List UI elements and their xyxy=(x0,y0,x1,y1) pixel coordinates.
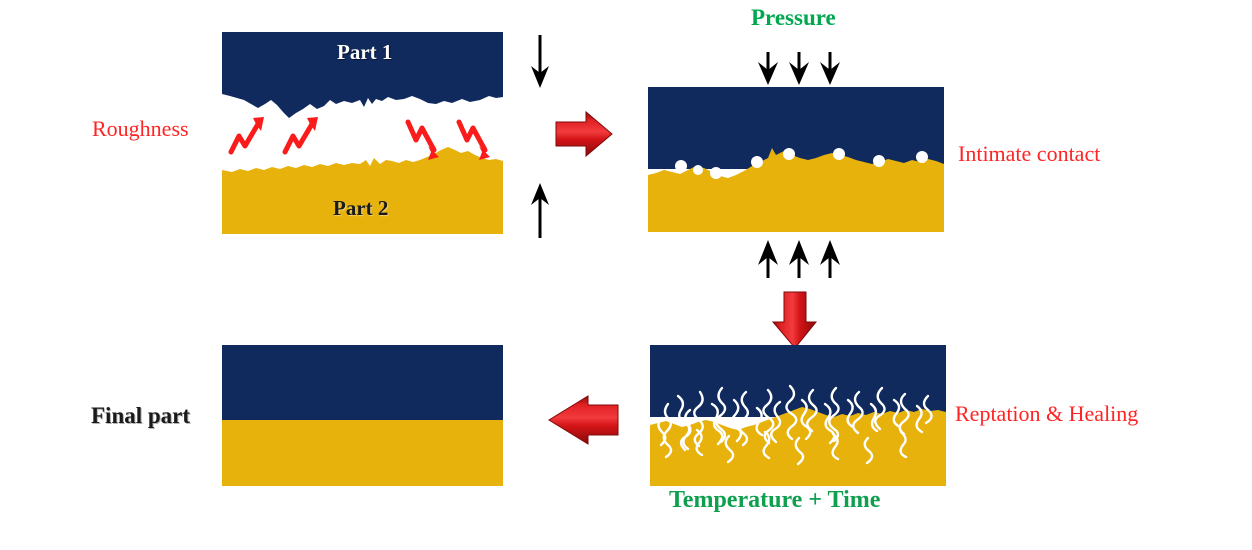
reptation-healing-label: Reptation & Healing xyxy=(955,403,1138,425)
pressure-arrow-up-1 xyxy=(758,240,778,278)
pressure-arrow-down-2 xyxy=(789,52,809,85)
diagram-graphics xyxy=(0,0,1252,550)
final-part-label: Final part xyxy=(91,404,190,427)
roughness-zigzag-up-2 xyxy=(285,124,312,152)
part2-closing-arrow xyxy=(531,183,549,238)
roughness-zigzag-up-1 xyxy=(231,124,258,152)
pressure-label: Pressure xyxy=(751,6,836,29)
panel4-gold-block xyxy=(222,420,503,486)
pressure-arrow-down-1 xyxy=(758,52,778,85)
part1-closing-arrow xyxy=(531,35,549,88)
panel-3-reptation-healing xyxy=(650,345,946,486)
arrow-panel2-to-panel3 xyxy=(773,292,816,348)
panel4-navy-block xyxy=(222,345,503,420)
pressure-arrow-down-3 xyxy=(820,52,840,85)
temperature-time-label: Temperature + Time xyxy=(669,488,880,512)
pressure-arrow-up-3 xyxy=(820,240,840,278)
process-diagram: Part 1 Part 2 Roughness Pressure Intimat… xyxy=(0,0,1252,550)
arrow-panel3-to-panel4 xyxy=(549,396,618,444)
roughness-zigzag-down-1 xyxy=(408,122,434,150)
roughness-zigzag-down-2 xyxy=(459,122,485,150)
part2-label: Part 2 xyxy=(333,196,388,221)
roughness-label: Roughness xyxy=(92,118,189,140)
panel-2-intimate-contact xyxy=(648,52,944,278)
pressure-arrow-up-2 xyxy=(789,240,809,278)
panel-4-final-part xyxy=(222,345,503,486)
part1-label: Part 1 xyxy=(337,40,392,65)
arrow-panel1-to-panel2 xyxy=(556,112,612,156)
intimate-contact-label: Intimate contact xyxy=(958,143,1100,165)
